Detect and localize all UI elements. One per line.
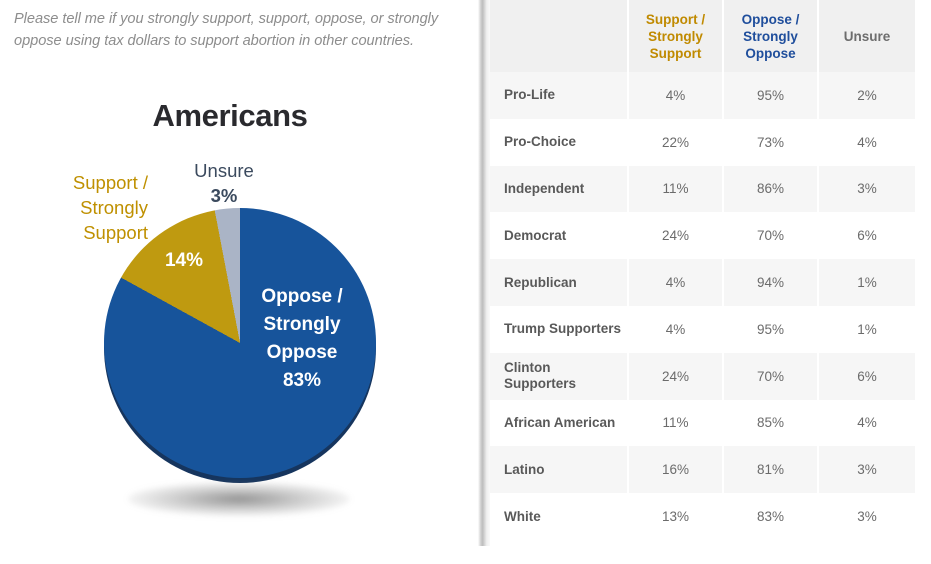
row-label: Latino xyxy=(490,446,628,493)
cell-oppose: 73% xyxy=(723,119,818,166)
cell-unsure: 1% xyxy=(818,259,915,306)
column-header-support: Support / Strongly Support xyxy=(628,0,723,72)
cell-support: 24% xyxy=(628,212,723,259)
row-label: African American xyxy=(490,400,628,447)
cell-oppose: 94% xyxy=(723,259,818,306)
pie-label-unsure-name: Unsure xyxy=(194,160,254,181)
cell-support: 4% xyxy=(628,306,723,353)
cell-unsure: 3% xyxy=(818,446,915,493)
pie-label-unsure: Unsure 3% xyxy=(168,158,280,208)
pie-drop-shadow xyxy=(128,482,350,516)
results-table: Support / Strongly Support Oppose / Stro… xyxy=(490,0,915,540)
cell-support: 16% xyxy=(628,446,723,493)
table-body: Pro-Life4%95%2%Pro-Choice22%73%4%Indepen… xyxy=(490,72,915,540)
cell-unsure: 4% xyxy=(818,119,915,166)
cell-support: 11% xyxy=(628,400,723,447)
survey-question-text: Please tell me if you strongly support, … xyxy=(14,8,458,52)
table-row: Democrat24%70%6% xyxy=(490,212,915,259)
results-table-panel: Support / Strongly Support Oppose / Stro… xyxy=(490,0,915,540)
poll-results-page: Please tell me if you strongly support, … xyxy=(0,0,931,564)
pie-label-unsure-pct: 3% xyxy=(168,183,280,208)
cell-oppose: 95% xyxy=(723,72,818,119)
cell-unsure: 1% xyxy=(818,306,915,353)
cell-unsure: 3% xyxy=(818,166,915,213)
pie-value-support: 14% xyxy=(148,250,220,272)
cell-support: 4% xyxy=(628,259,723,306)
cell-unsure: 2% xyxy=(818,72,915,119)
chart-panel: Please tell me if you strongly support, … xyxy=(0,0,478,564)
table-header: Support / Strongly Support Oppose / Stro… xyxy=(490,0,915,72)
column-header-oppose-line1: Oppose / xyxy=(742,12,800,27)
cell-support: 11% xyxy=(628,166,723,213)
table-row: Clinton Supporters24%70%6% xyxy=(490,353,915,400)
cell-support: 22% xyxy=(628,119,723,166)
column-header-oppose-line3: Oppose xyxy=(745,46,795,61)
table-header-row: Support / Strongly Support Oppose / Stro… xyxy=(490,0,915,72)
cell-oppose: 83% xyxy=(723,493,818,540)
table-row: Pro-Life4%95%2% xyxy=(490,72,915,119)
table-row: Latino16%81%3% xyxy=(490,446,915,493)
panel-divider xyxy=(478,0,490,546)
row-label: Democrat xyxy=(490,212,628,259)
row-label: Pro-Life xyxy=(490,72,628,119)
pie-label-oppose: Oppose / Strongly Oppose 83% xyxy=(238,283,366,395)
cell-oppose: 86% xyxy=(723,166,818,213)
row-label: Republican xyxy=(490,259,628,306)
row-label: White xyxy=(490,493,628,540)
cell-support: 4% xyxy=(628,72,723,119)
table-row: African American11%85%4% xyxy=(490,400,915,447)
cell-oppose: 70% xyxy=(723,353,818,400)
row-label: Independent xyxy=(490,166,628,213)
table-row: White13%83%3% xyxy=(490,493,915,540)
row-label: Pro-Choice xyxy=(490,119,628,166)
cell-support: 13% xyxy=(628,493,723,540)
column-header-support-line1: Support / xyxy=(646,12,705,27)
column-header-oppose: Oppose / Strongly Oppose xyxy=(723,0,818,72)
cell-oppose: 70% xyxy=(723,212,818,259)
cell-unsure: 4% xyxy=(818,400,915,447)
column-header-support-line2: Strongly xyxy=(648,29,703,44)
cell-oppose: 81% xyxy=(723,446,818,493)
cell-unsure: 6% xyxy=(818,353,915,400)
table-row: Pro-Choice22%73%4% xyxy=(490,119,915,166)
row-label: Trump Supporters xyxy=(490,306,628,353)
cell-support: 24% xyxy=(628,353,723,400)
pie-label-support: Support / Strongly Support xyxy=(30,170,148,245)
column-header-blank xyxy=(490,0,628,72)
table-row: Trump Supporters4%95%1% xyxy=(490,306,915,353)
column-header-unsure: Unsure xyxy=(818,0,915,72)
cell-unsure: 6% xyxy=(818,212,915,259)
pie-value-oppose: 83% xyxy=(238,367,366,395)
cell-unsure: 3% xyxy=(818,493,915,540)
cell-oppose: 85% xyxy=(723,400,818,447)
table-row: Independent11%86%3% xyxy=(490,166,915,213)
table-row: Republican4%94%1% xyxy=(490,259,915,306)
pie-label-oppose-name: Oppose / Strongly Oppose xyxy=(261,286,342,363)
row-label: Clinton Supporters xyxy=(490,353,628,400)
column-header-support-line3: Support xyxy=(650,46,702,61)
column-header-oppose-line2: Strongly xyxy=(743,29,798,44)
cell-oppose: 95% xyxy=(723,306,818,353)
page-title: Americans xyxy=(0,98,460,134)
